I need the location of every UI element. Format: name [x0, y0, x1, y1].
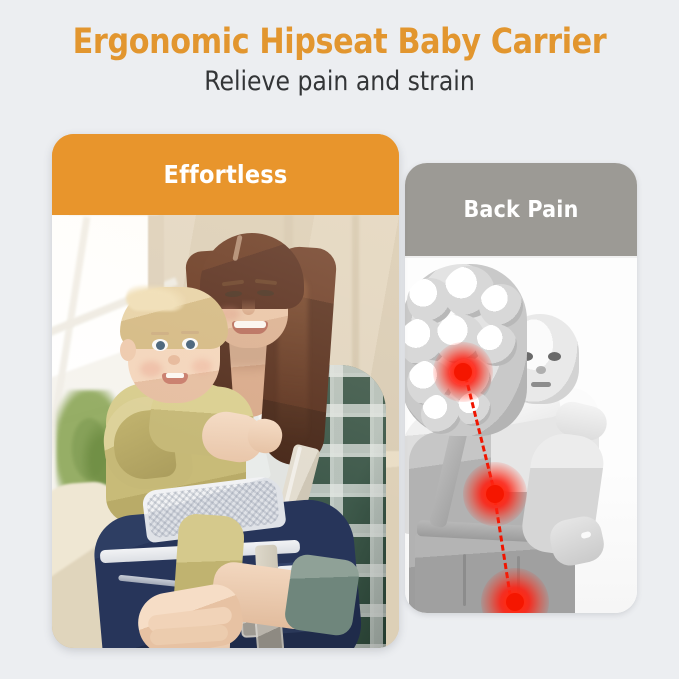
skirt-fold	[463, 554, 466, 606]
effortless-label: Effortless	[164, 160, 288, 189]
mother-sleeve-cuff	[283, 553, 361, 638]
mother-smile	[232, 321, 268, 334]
product-infographic: Ergonomic Hipseat Baby Carrier Relieve p…	[0, 0, 679, 679]
page-title: Ergonomic Hipseat Baby Carrier	[14, 22, 666, 62]
pain-marker-neck	[433, 342, 493, 402]
back-pain-label: Back Pain	[463, 197, 578, 223]
mother-nose	[242, 299, 255, 315]
pain-core	[486, 485, 504, 503]
effortless-banner: Effortless	[52, 134, 399, 215]
page-subtitle: Relieve pain and strain	[10, 66, 669, 98]
back-pain-banner: Back Pain	[405, 163, 637, 256]
hair-curl	[479, 284, 523, 328]
baby-mouth	[531, 382, 551, 387]
baby-nose	[536, 366, 546, 374]
back-pain-photo	[405, 256, 637, 613]
grayscale-scene	[405, 256, 637, 613]
baby-eyebrow-left	[151, 332, 169, 335]
baby-eyebrow-right	[181, 331, 199, 334]
pain-core	[454, 363, 472, 381]
baby-hair-highlight	[126, 285, 186, 311]
baby-eye-right	[548, 352, 561, 361]
effortless-photo	[52, 215, 399, 648]
back-pain-panel: Back Pain	[405, 163, 637, 613]
baby-pupil-right	[186, 340, 195, 349]
baby-nose	[168, 355, 180, 365]
effortless-panel: Effortless	[52, 134, 399, 648]
baby-pupil-left	[156, 341, 165, 350]
pain-core	[506, 593, 524, 611]
baby-teeth	[166, 373, 184, 378]
baby-cheek	[140, 361, 162, 377]
baby-ear	[120, 339, 136, 361]
pain-marker-mid-back	[463, 462, 527, 526]
baby-smile	[162, 373, 188, 384]
mother-teeth	[234, 321, 266, 328]
baby-cheek	[192, 359, 212, 374]
